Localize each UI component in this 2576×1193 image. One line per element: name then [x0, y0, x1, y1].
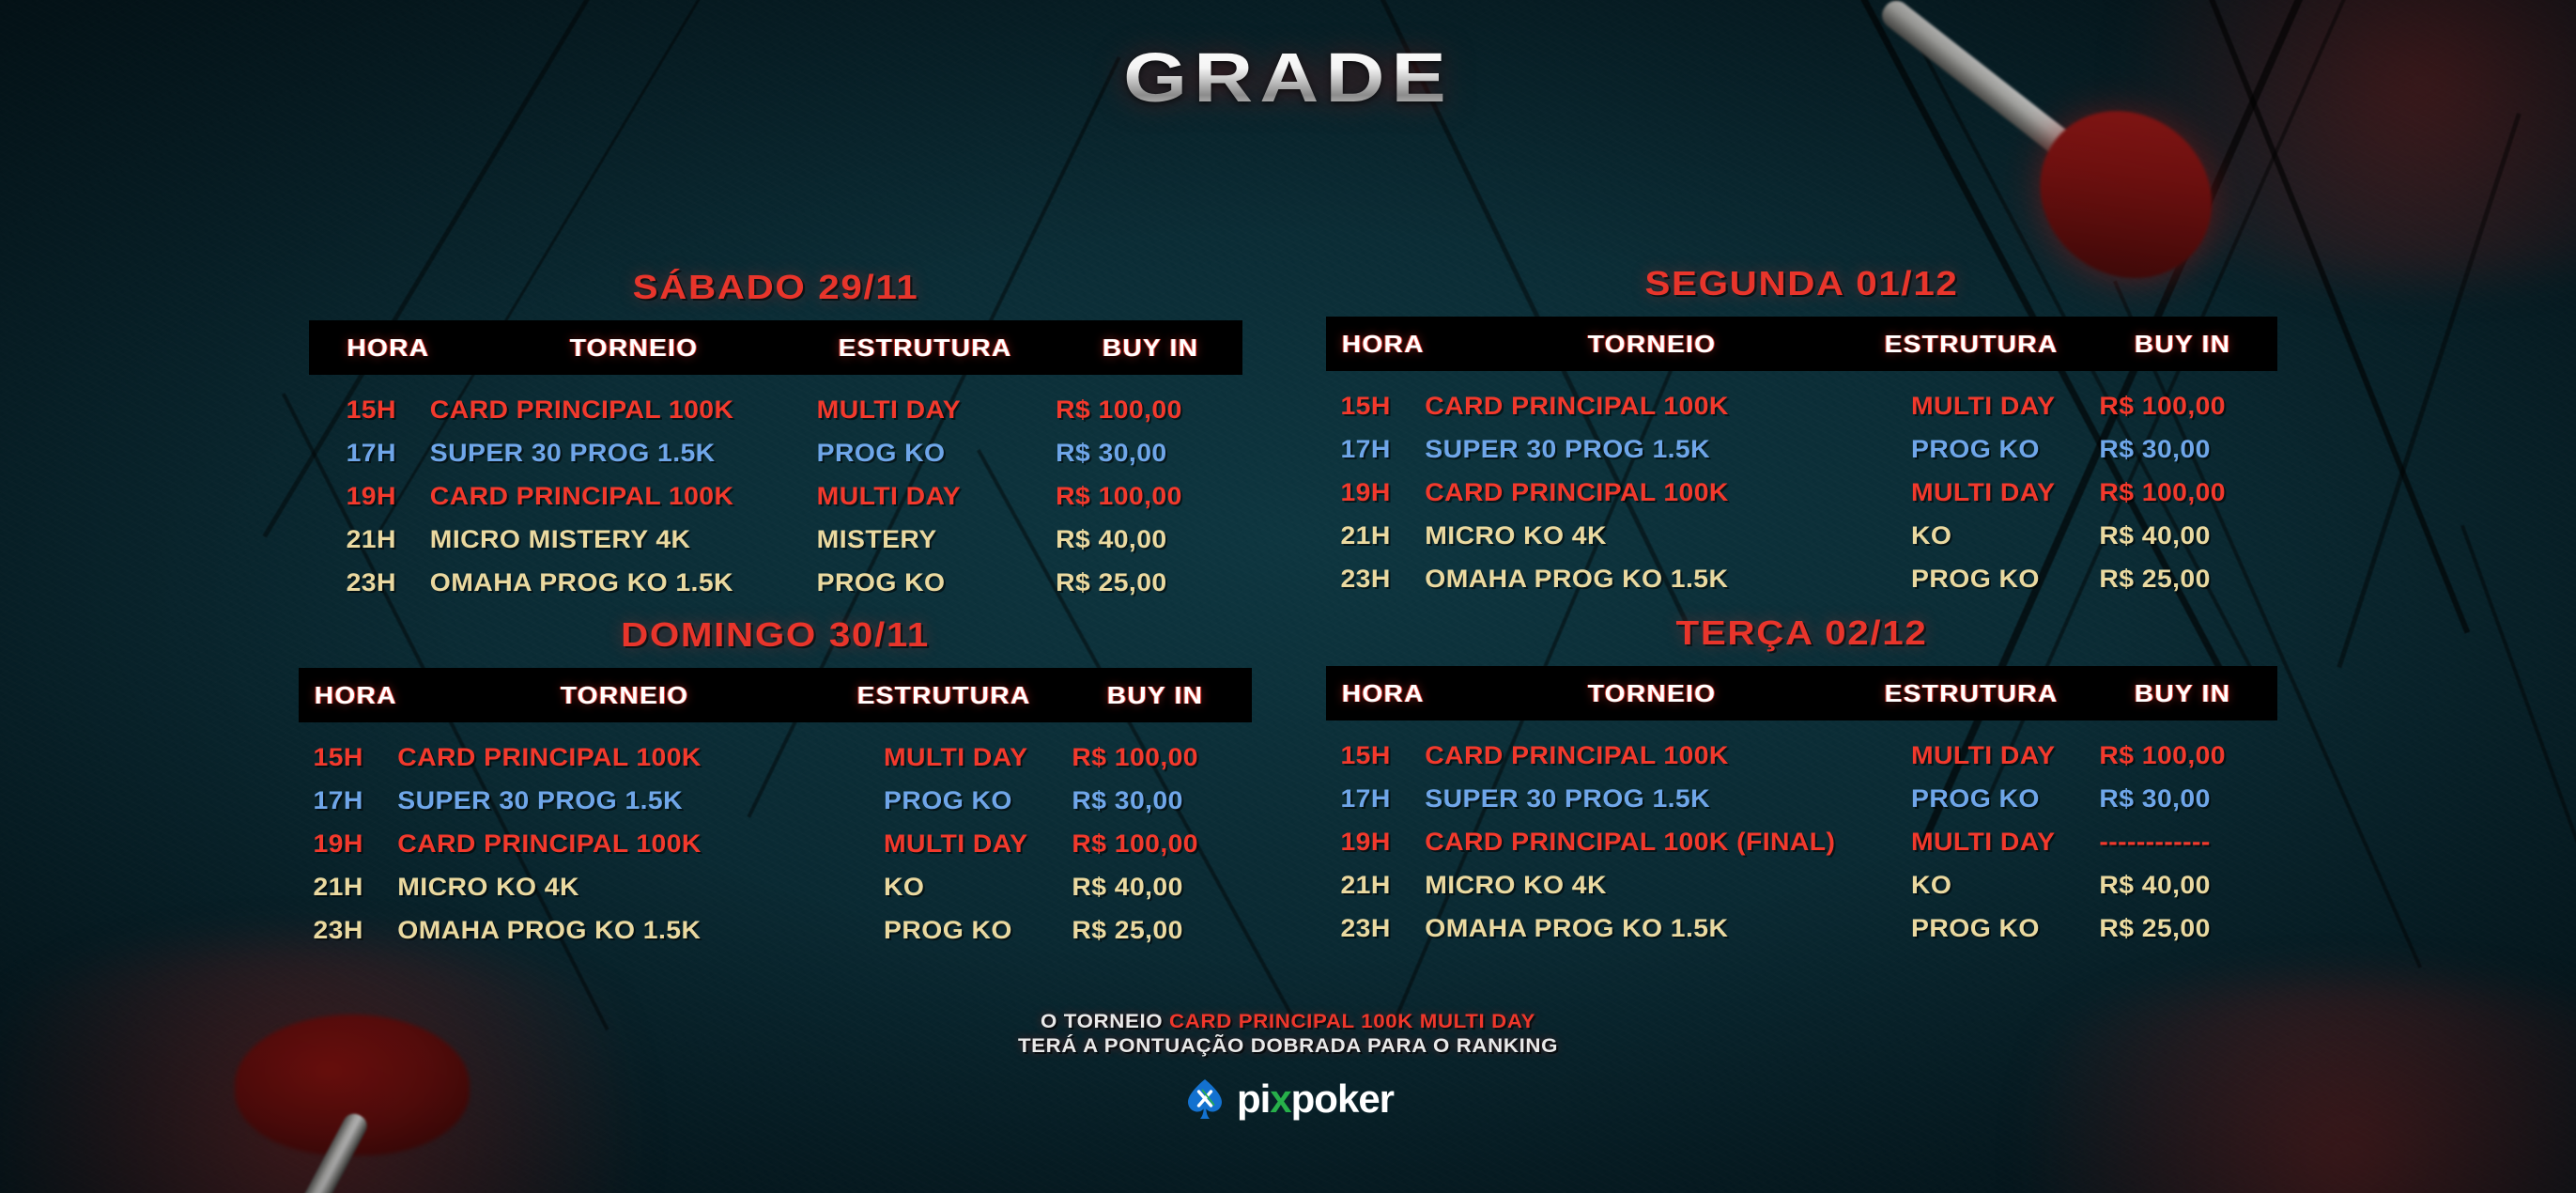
cell-estrutura: MULTI DAY [817, 482, 1066, 511]
table-header-domingo: HORA TORNEIO ESTRUTURA BUY IN [299, 668, 1252, 722]
cell-estrutura: MULTI DAY [1911, 392, 2108, 421]
cell-buyin: R$ 100,00 [1056, 395, 1247, 425]
cell-torneio: OMAHA PROG KO 1.5K [1425, 565, 1928, 594]
cell-estrutura: KO [884, 873, 1081, 902]
cell-buyin: R$ 30,00 [2099, 784, 2281, 813]
day-title-domingo: DOMINGO 30/11 [241, 615, 1309, 655]
cell-buyin: R$ 30,00 [1056, 439, 1247, 468]
cell-buyin: R$ 100,00 [2099, 478, 2281, 507]
table-row: 19H CARD PRINCIPAL 100K MULTI DAY R$ 100… [299, 822, 1252, 865]
cell-torneio: CARD PRINCIPAL 100K [430, 482, 832, 511]
logo-text-x: x [1270, 1077, 1290, 1121]
footer-line-2: TERÁ A PONTUAÇÃO DOBRADA PARA O RANKING [0, 1034, 2576, 1059]
table-row: 23H OMAHA PROG KO 1.5K PROG KO R$ 25,00 [1326, 906, 2277, 950]
table-row: 21H MICRO KO 4K KO R$ 40,00 [299, 865, 1252, 908]
day-card-terca: TERÇA 02/12 HORA TORNEIO ESTRUTURA BUY I… [1326, 613, 2277, 950]
cell-torneio: CARD PRINCIPAL 100K [397, 743, 901, 772]
cell-estrutura: PROG KO [1911, 914, 2108, 943]
table-body-segunda: 15H CARD PRINCIPAL 100K MULTI DAY R$ 100… [1326, 371, 2277, 600]
column-header-buyin: BUY IN [1074, 681, 1237, 710]
cell-torneio: CARD PRINCIPAL 100K [1425, 741, 1928, 770]
cell-buyin: R$ 25,00 [1056, 568, 1247, 597]
table-row: 19H CARD PRINCIPAL 100K MULTI DAY R$ 100… [309, 474, 1242, 518]
cell-torneio: CARD PRINCIPAL 100K [430, 395, 832, 425]
cell-hora: 23H [347, 568, 442, 597]
column-header-torneio: TORNEIO [1454, 679, 1849, 708]
table-row: 19H CARD PRINCIPAL 100K MULTI DAY R$ 100… [1326, 471, 2277, 514]
cell-buyin: R$ 100,00 [1072, 829, 1254, 859]
column-header-estrutura: ESTRUTURA [773, 333, 1077, 363]
table-row: 17H SUPER 30 PROG 1.5K PROG KO R$ 30,00 [1326, 777, 2277, 820]
table-row: 17H SUPER 30 PROG 1.5K PROG KO R$ 30,00 [299, 779, 1252, 822]
cell-buyin: R$ 40,00 [2099, 521, 2281, 550]
cell-torneio: OMAHA PROG KO 1.5K [1425, 914, 1928, 943]
footer-text-highlight: CARD PRINCIPAL 100K MULTI DAY [1169, 1011, 1535, 1032]
table-body-domingo: 15H CARD PRINCIPAL 100K MULTI DAY R$ 100… [299, 722, 1252, 952]
column-header-estrutura: ESTRUTURA [1824, 330, 2118, 359]
logo-text-post: poker [1291, 1077, 1394, 1121]
cell-buyin: R$ 100,00 [2099, 392, 2281, 421]
table-header-terca: HORA TORNEIO ESTRUTURA BUY IN [1326, 666, 2277, 720]
cell-estrutura: PROG KO [884, 916, 1081, 945]
cell-estrutura: MULTI DAY [1911, 478, 2108, 507]
day-card-segunda: SEGUNDA 01/12 HORA TORNEIO ESTRUTURA BUY… [1326, 264, 2277, 600]
cell-estrutura: PROG KO [817, 568, 1066, 597]
cell-estrutura: MULTI DAY [817, 395, 1066, 425]
cell-torneio: CARD PRINCIPAL 100K (FINAL) [1425, 828, 1928, 857]
column-header-buyin: BUY IN [2102, 330, 2264, 359]
column-header-estrutura: ESTRUTURA [796, 681, 1090, 710]
table-row: 21H MICRO KO 4K KO R$ 40,00 [1326, 514, 2277, 557]
table-body-terca: 15H CARD PRINCIPAL 100K MULTI DAY R$ 100… [1326, 720, 2277, 950]
cell-estrutura: KO [1911, 871, 2108, 900]
cell-torneio: SUPER 30 PROG 1.5K [397, 786, 901, 815]
cell-estrutura: KO [1911, 521, 2108, 550]
table-body-sabado: 15H CARD PRINCIPAL 100K MULTI DAY R$ 100… [309, 375, 1242, 604]
column-header-hora: HORA [347, 333, 488, 363]
cell-estrutura: PROG KO [1911, 565, 2108, 594]
column-header-estrutura: ESTRUTURA [1824, 679, 2118, 708]
cell-buyin: R$ 25,00 [2099, 565, 2281, 594]
cell-estrutura: PROG KO [884, 786, 1081, 815]
cell-torneio: CARD PRINCIPAL 100K [397, 829, 901, 859]
cell-buyin: R$ 25,00 [2099, 914, 2281, 943]
cell-buyin: R$ 40,00 [2099, 871, 2281, 900]
cell-torneio: MICRO KO 4K [1425, 871, 1928, 900]
cell-hora: 19H [347, 482, 442, 511]
cell-torneio: CARD PRINCIPAL 100K [1425, 478, 1928, 507]
table-row: 19H CARD PRINCIPAL 100K (FINAL) MULTI DA… [1326, 820, 2277, 863]
cell-buyin: R$ 30,00 [2099, 435, 2281, 464]
cell-buyin: R$ 40,00 [1072, 873, 1254, 902]
cell-torneio: MICRO MISTERY 4K [430, 525, 832, 554]
day-card-domingo: DOMINGO 30/11 HORA TORNEIO ESTRUTURA BUY… [299, 615, 1252, 952]
pixpoker-logo[interactable]: pixpoker [0, 1077, 2576, 1122]
table-row: 21H MICRO KO 4K KO R$ 40,00 [1326, 863, 2277, 906]
cell-buyin: R$ 30,00 [1072, 786, 1254, 815]
cell-estrutura: MULTI DAY [1911, 828, 2108, 857]
column-header-torneio: TORNEIO [471, 333, 796, 363]
cell-estrutura: PROG KO [1911, 435, 2108, 464]
footer-note: O TORNEIO CARD PRINCIPAL 100K MULTI DAY … [0, 1010, 2576, 1060]
column-header-buyin: BUY IN [2102, 679, 2264, 708]
cell-hora: 15H [347, 395, 442, 425]
table-row: 15H CARD PRINCIPAL 100K MULTI DAY R$ 100… [309, 388, 1242, 431]
column-header-torneio: TORNEIO [1454, 330, 1849, 359]
cell-estrutura: MULTI DAY [884, 829, 1081, 859]
table-row: 15H CARD PRINCIPAL 100K MULTI DAY R$ 100… [1326, 384, 2277, 427]
cell-hora: 21H [347, 525, 442, 554]
column-header-torneio: TORNEIO [426, 681, 822, 710]
table-row: 23H OMAHA PROG KO 1.5K PROG KO R$ 25,00 [299, 908, 1252, 952]
spade-x-icon [1182, 1077, 1227, 1122]
cell-torneio: SUPER 30 PROG 1.5K [1425, 435, 1928, 464]
day-title-segunda: SEGUNDA 01/12 [1269, 264, 2335, 303]
table-header-sabado: HORA TORNEIO ESTRUTURA BUY IN [309, 320, 1242, 375]
table-row: 17H SUPER 30 PROG 1.5K PROG KO R$ 30,00 [309, 431, 1242, 474]
table-row: 15H CARD PRINCIPAL 100K MULTI DAY R$ 100… [1326, 734, 2277, 777]
cell-estrutura: PROG KO [817, 439, 1066, 468]
logo-text-pre: pi [1237, 1077, 1270, 1121]
cell-buyin: ------------ [2099, 828, 2281, 857]
cell-torneio: MICRO KO 4K [1425, 521, 1928, 550]
table-header-segunda: HORA TORNEIO ESTRUTURA BUY IN [1326, 317, 2277, 371]
table-row: 23H OMAHA PROG KO 1.5K PROG KO R$ 25,00 [1326, 557, 2277, 600]
table-row: 23H OMAHA PROG KO 1.5K PROG KO R$ 25,00 [309, 561, 1242, 604]
cell-buyin: R$ 25,00 [1072, 916, 1254, 945]
day-title-terca: TERÇA 02/12 [1269, 613, 2335, 653]
cell-torneio: MICRO KO 4K [397, 873, 901, 902]
footer-line-1: O TORNEIO CARD PRINCIPAL 100K MULTI DAY [0, 1010, 2576, 1034]
cell-estrutura: MULTI DAY [1911, 741, 2108, 770]
cell-torneio: OMAHA PROG KO 1.5K [430, 568, 832, 597]
cell-buyin: R$ 40,00 [1056, 525, 1247, 554]
table-row: 15H CARD PRINCIPAL 100K MULTI DAY R$ 100… [299, 736, 1252, 779]
cell-torneio: SUPER 30 PROG 1.5K [430, 439, 832, 468]
footer-text-prefix: O TORNEIO [1041, 1011, 1169, 1032]
cell-buyin: R$ 100,00 [1056, 482, 1247, 511]
table-row: 21H MICRO MISTERY 4K MISTERY R$ 40,00 [309, 518, 1242, 561]
day-title-sabado: SÁBADO 29/11 [253, 268, 1298, 307]
cell-buyin: R$ 100,00 [1072, 743, 1254, 772]
cell-estrutura: MISTERY [817, 525, 1066, 554]
cell-hora: 17H [347, 439, 442, 468]
cell-torneio: OMAHA PROG KO 1.5K [397, 916, 901, 945]
table-row: 17H SUPER 30 PROG 1.5K PROG KO R$ 30,00 [1326, 427, 2277, 471]
column-header-buyin: BUY IN [1059, 333, 1242, 363]
logo-wordmark: pixpoker [1237, 1077, 1394, 1122]
cell-torneio: SUPER 30 PROG 1.5K [1425, 784, 1928, 813]
cell-estrutura: MULTI DAY [884, 743, 1081, 772]
cell-torneio: CARD PRINCIPAL 100K [1425, 392, 1928, 421]
cell-estrutura: PROG KO [1911, 784, 2108, 813]
day-card-sabado: SÁBADO 29/11 HORA TORNEIO ESTRUTURA BUY … [309, 268, 1242, 604]
cell-buyin: R$ 100,00 [2099, 741, 2281, 770]
